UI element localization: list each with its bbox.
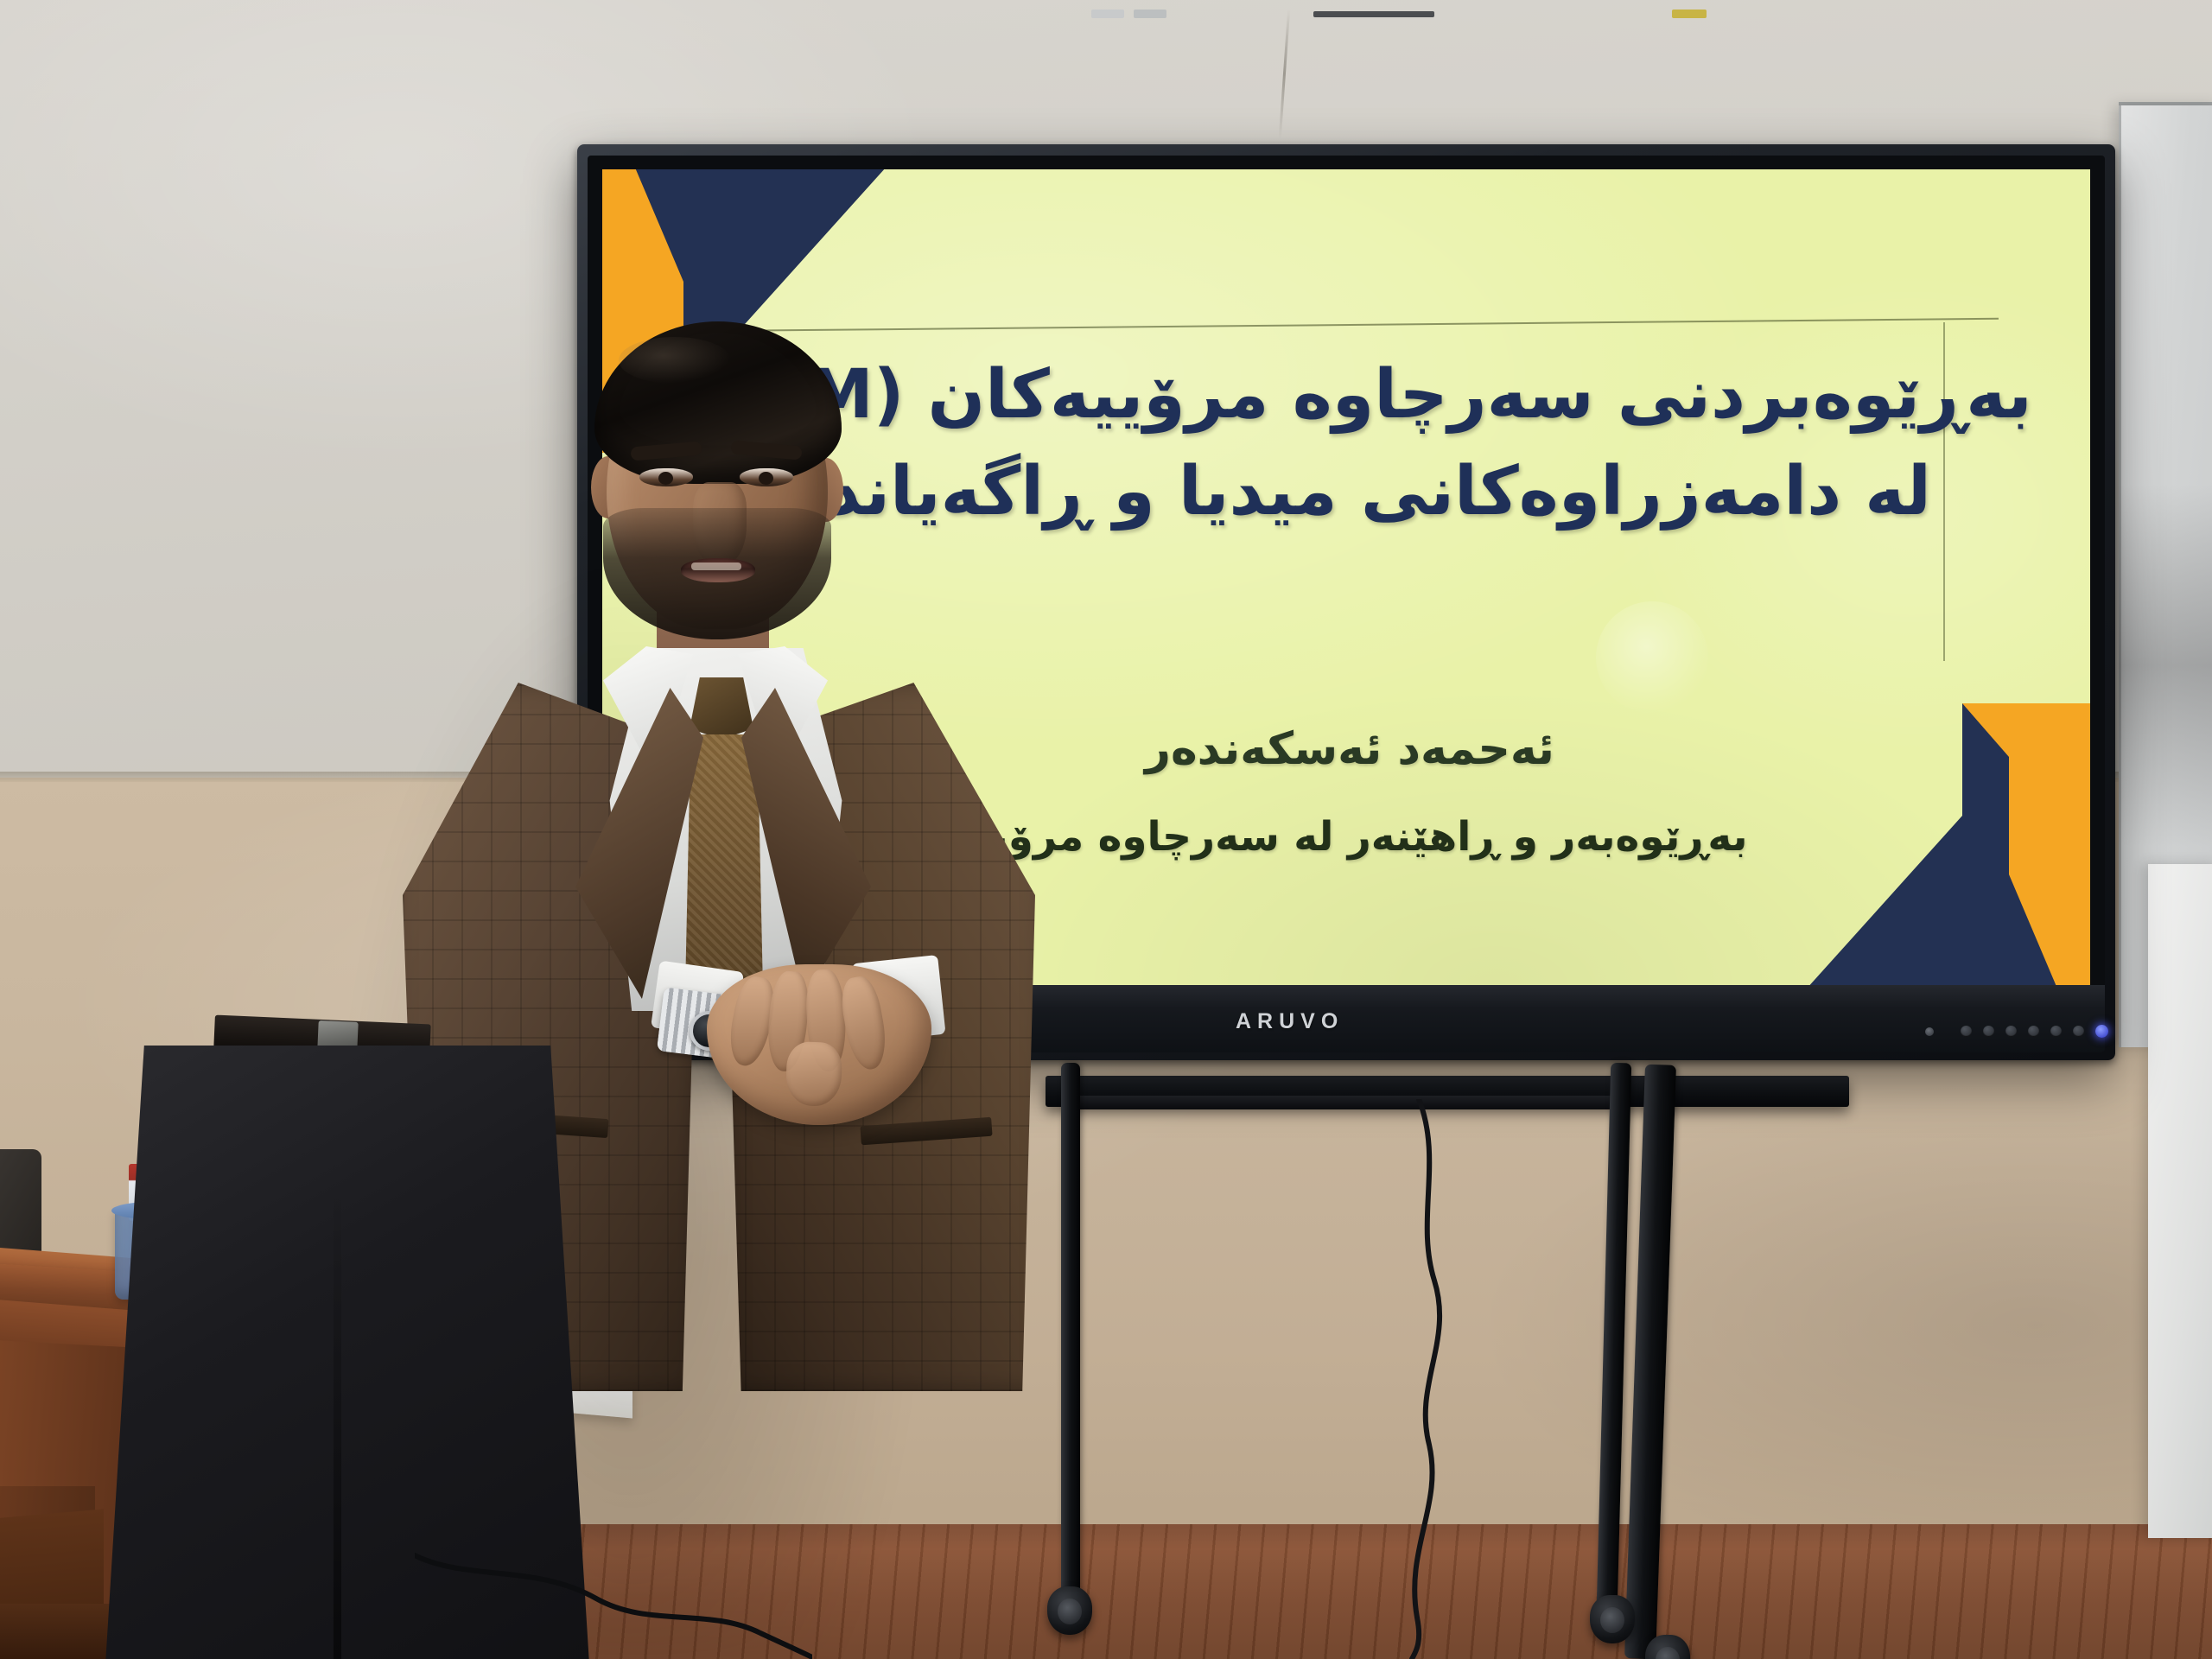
tie-knot (690, 677, 753, 740)
display-button-3[interactable] (2005, 1026, 2017, 1037)
stand-caster-right-inner (1590, 1595, 1635, 1643)
whiteboard-secondary (2148, 864, 2212, 1538)
whiteboard-shadow (2119, 484, 2212, 847)
tray-stylus-4[interactable] (1672, 10, 1707, 18)
ir-receiver-icon (1925, 1027, 1934, 1036)
mouth (681, 558, 755, 582)
eye-right (740, 468, 793, 486)
trouser-center-seam (334, 1184, 341, 1659)
tray-stylus-3[interactable] (1313, 11, 1434, 17)
lectern-base-shadow (0, 1604, 121, 1659)
floor-cable (415, 1547, 812, 1659)
eye-left (639, 468, 693, 486)
photo-scene: بەڕێوەبردنی سەرچاوە مرۆییەکان (HRM) لە د… (0, 0, 2212, 1659)
display-button-5[interactable] (2050, 1026, 2062, 1037)
tray-stylus-2[interactable] (1134, 10, 1166, 18)
hair (594, 321, 842, 484)
display-control-buttons[interactable] (1925, 1025, 2108, 1038)
screen-glare (1596, 601, 1708, 714)
display-button-4[interactable] (2028, 1026, 2039, 1037)
display-button-1[interactable] (1961, 1026, 1972, 1037)
display-button-2[interactable] (1983, 1026, 1994, 1037)
stand-crossbar (1076, 1096, 1629, 1109)
tray-stylus-1[interactable] (1091, 10, 1124, 18)
display-brand-logo: ARUVO (1236, 1009, 1344, 1034)
power-indicator-icon[interactable] (2095, 1025, 2108, 1038)
display-button-6[interactable] (2073, 1026, 2084, 1037)
